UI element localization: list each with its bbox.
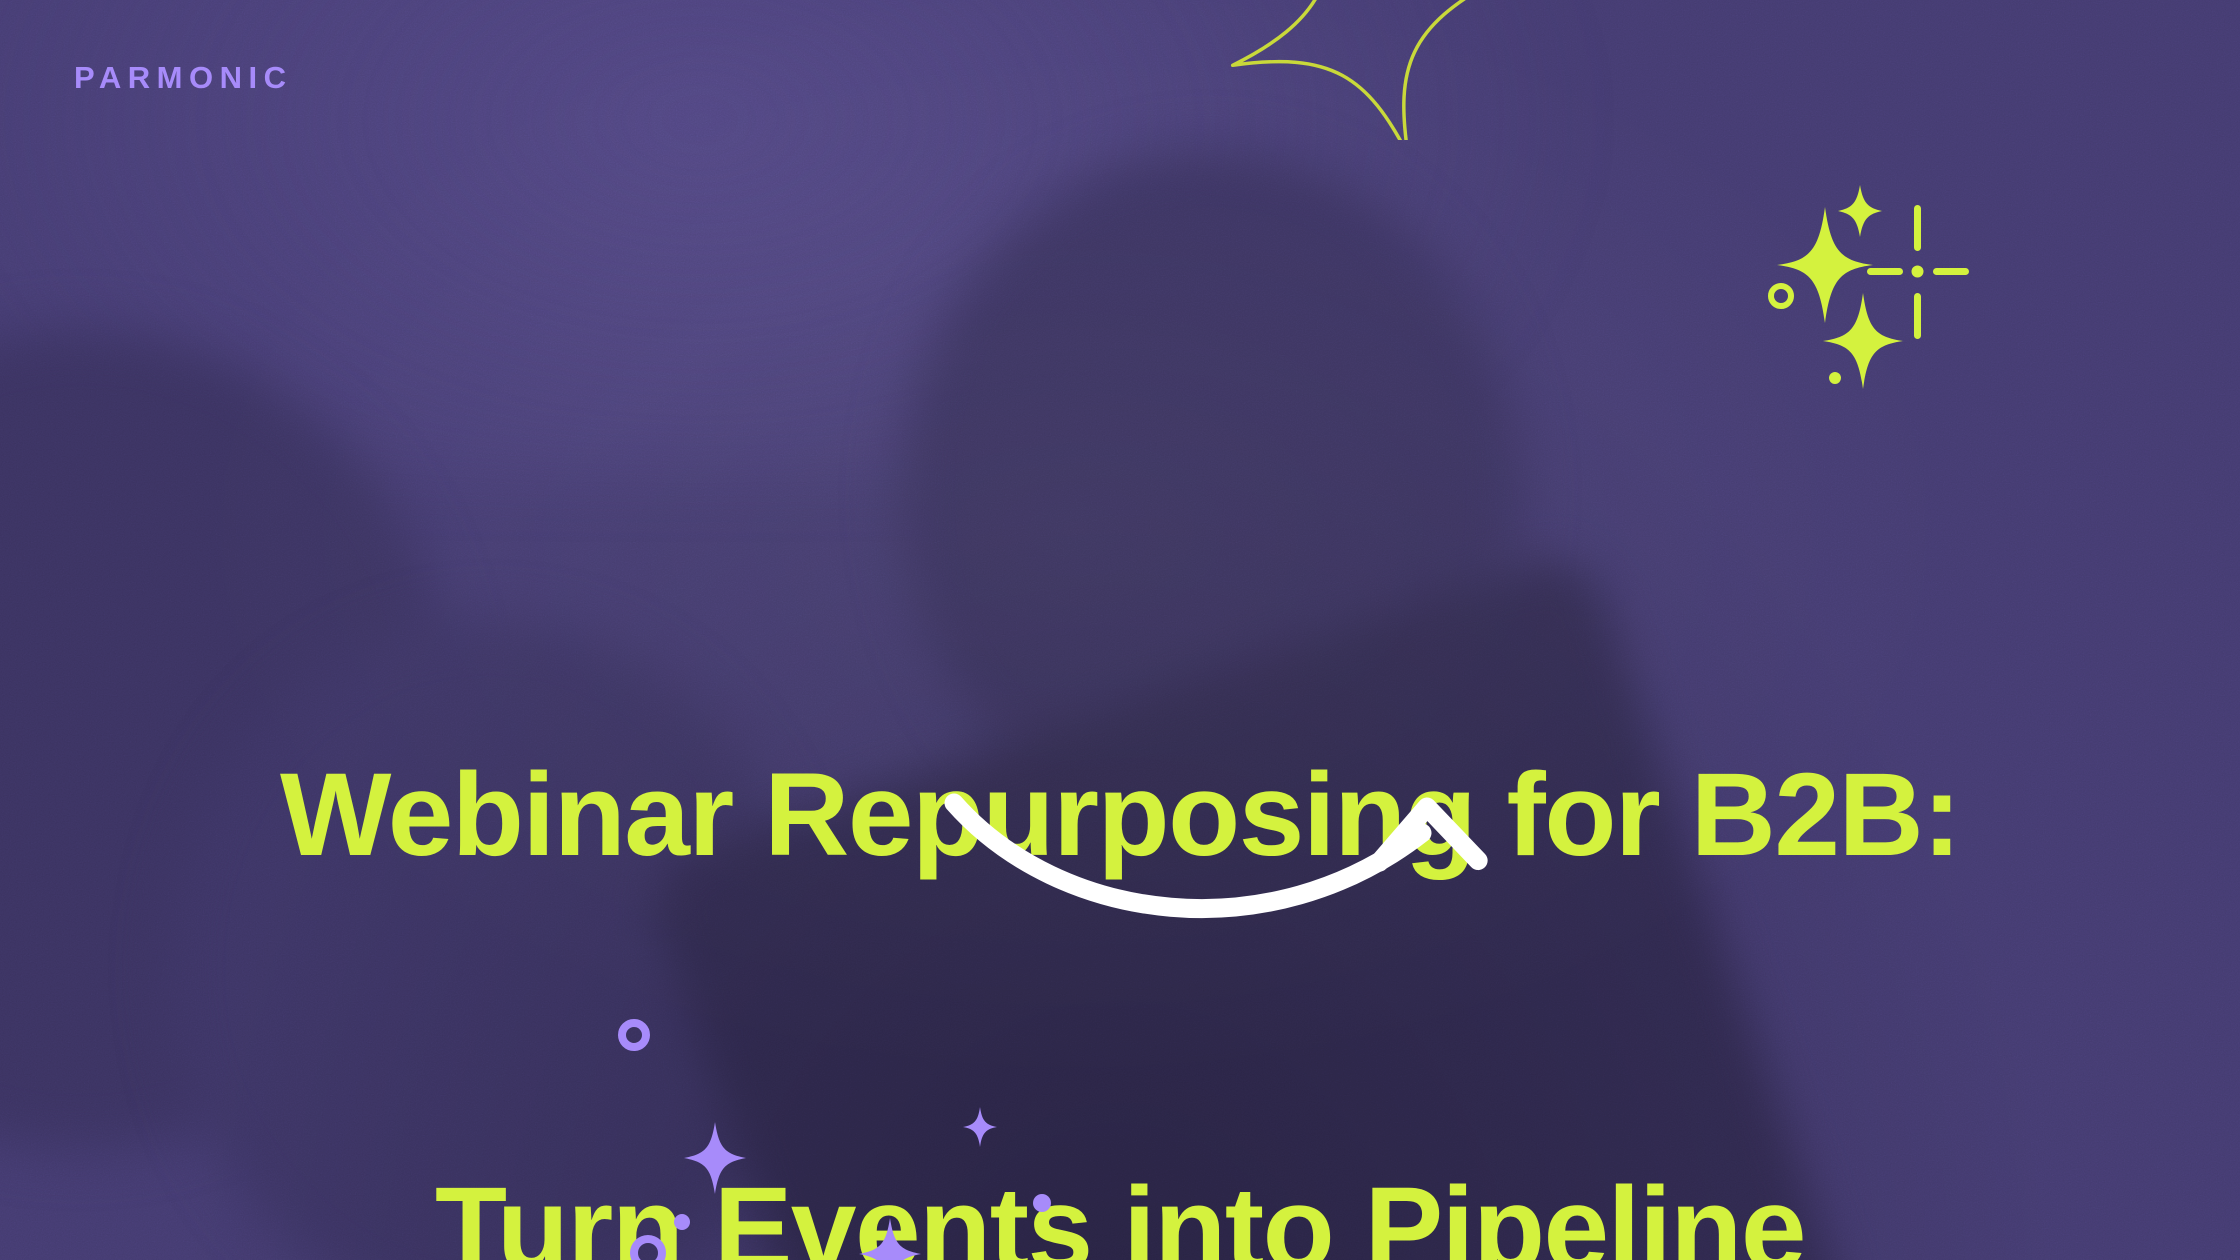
star-outline-icon: [1230, 0, 1510, 140]
sparkle-large-icon: [1777, 207, 1873, 323]
sparkle-cluster-decoration: [1755, 165, 2015, 420]
dot-icon: [1829, 372, 1841, 384]
headline-line-2: Turn Events into Pipeline: [0, 1160, 2240, 1260]
curved-arrow-icon: [940, 775, 1560, 935]
sparkle-medium-bottom-icon: [1823, 293, 1903, 389]
sparkle-small-top-icon: [1838, 185, 1882, 237]
sparkle-cluster-icon: [1755, 165, 2015, 415]
curved-arrow: [940, 775, 1560, 935]
crosshair-icon: [1867, 205, 1969, 339]
slide-canvas: PARMONIC Webinar Repurposing for B2B: Tu…: [0, 0, 2240, 1260]
ring-icon: [1771, 286, 1791, 306]
parmonic-logo[interactable]: PARMONIC: [74, 60, 292, 96]
star-outline-decoration: [1230, 0, 1510, 145]
